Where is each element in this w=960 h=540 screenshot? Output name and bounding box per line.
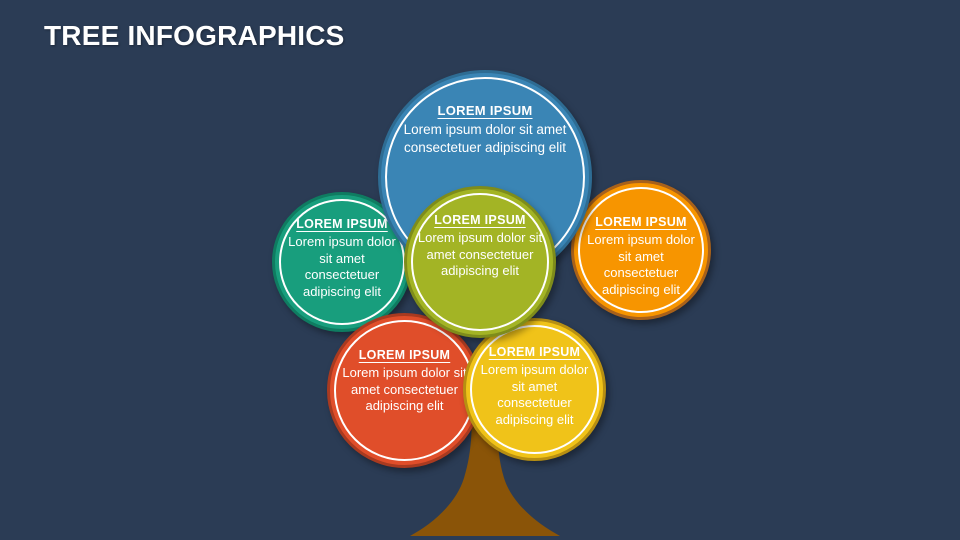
- page-title: TREE INFOGRAPHICS: [44, 20, 345, 52]
- node-heading: LOREM IPSUM: [584, 215, 698, 229]
- node-content: LOREM IPSUM Lorem ipsum dolor sit amet c…: [407, 213, 553, 280]
- node-body: Lorem ipsum dolor sit amet consectetuer …: [476, 362, 593, 428]
- node-bottom-right-yellow[interactable]: LOREM IPSUM Lorem ipsum dolor sit amet c…: [463, 318, 606, 461]
- node-heading: LOREM IPSUM: [417, 213, 543, 227]
- node-heading: LOREM IPSUM: [391, 103, 579, 118]
- node-right-orange[interactable]: LOREM IPSUM Lorem ipsum dolor sit amet c…: [571, 180, 711, 320]
- node-body: Lorem ipsum dolor sit amet consectetuer …: [391, 121, 579, 157]
- node-heading: LOREM IPSUM: [340, 348, 469, 362]
- node-content: LOREM IPSUM Lorem ipsum dolor sit amet c…: [330, 348, 479, 415]
- node-content: LOREM IPSUM Lorem ipsum dolor sit amet c…: [275, 217, 409, 300]
- node-content: LOREM IPSUM Lorem ipsum dolor sit amet c…: [574, 215, 708, 298]
- node-heading: LOREM IPSUM: [285, 217, 399, 231]
- node-body: Lorem ipsum dolor sit amet consectetuer …: [285, 234, 399, 300]
- node-center-green[interactable]: LOREM IPSUM Lorem ipsum dolor sit amet c…: [404, 186, 556, 338]
- node-body: Lorem ipsum dolor sit amet consectetuer …: [584, 232, 698, 298]
- slide-canvas: TREE INFOGRAPHICS LOREM IPSUM Lorem ipsu…: [0, 0, 960, 540]
- node-body: Lorem ipsum dolor sit amet consectetuer …: [340, 365, 469, 415]
- node-body: Lorem ipsum dolor sit amet consectetuer …: [417, 230, 543, 280]
- node-content: LOREM IPSUM Lorem ipsum dolor sit amet c…: [381, 103, 589, 157]
- node-bottom-left-red[interactable]: LOREM IPSUM Lorem ipsum dolor sit amet c…: [327, 313, 482, 468]
- node-heading: LOREM IPSUM: [476, 345, 593, 359]
- node-content: LOREM IPSUM Lorem ipsum dolor sit amet c…: [466, 345, 603, 428]
